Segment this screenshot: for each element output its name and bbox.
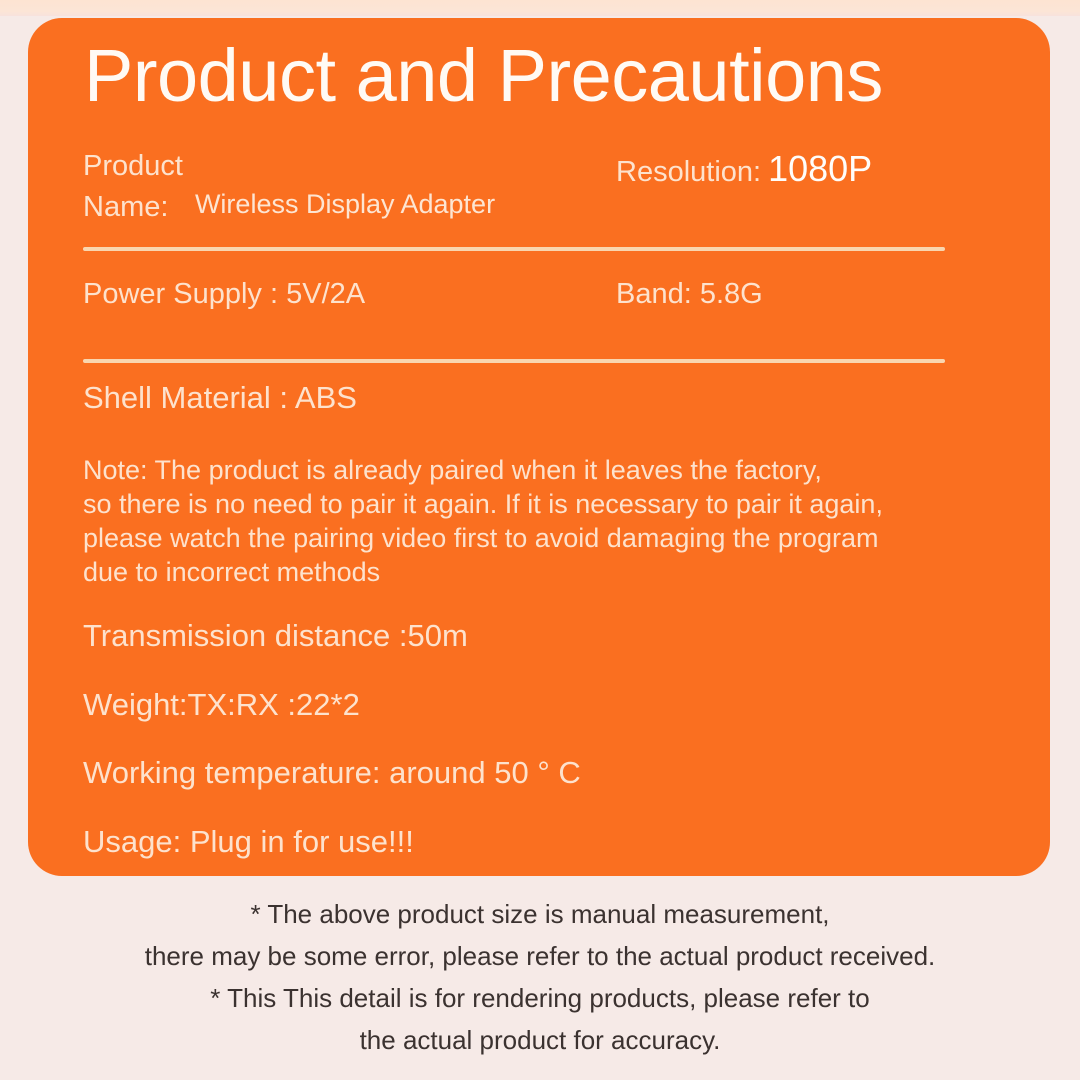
footer-line-4: the actual product for accuracy. xyxy=(0,1019,1080,1061)
spec-usage: Usage: Plug in for use!!! xyxy=(83,822,414,862)
footer-disclaimer: * The above product size is manual measu… xyxy=(0,893,1080,1061)
resolution-value: 1080P xyxy=(761,148,872,189)
resolution-label: Resolution: xyxy=(616,156,761,188)
footer-line-2: there may be some error, please refer to… xyxy=(0,935,1080,977)
top-accent-strip xyxy=(0,0,1080,16)
spec-cell-product-name: Product Name: Wireless Display Adapter xyxy=(83,146,495,228)
spec-row-product-name: Product Name: Wireless Display Adapter R… xyxy=(83,146,995,234)
spec-weight: Weight:TX:RX :22*2 xyxy=(83,685,360,725)
product-name-value: Wireless Display Adapter xyxy=(183,184,495,228)
spec-transmission-distance: Transmission distance :50m xyxy=(83,616,468,656)
spec-working-temperature: Working temperature: around 50 ° C xyxy=(83,753,581,793)
spec-row-power-band: Power Supply : 5V/2A Band: 5.8G xyxy=(83,271,995,341)
footer-line-1: * The above product size is manual measu… xyxy=(0,893,1080,935)
product-name-label: Product Name: xyxy=(83,146,183,228)
spec-cell-resolution: Resolution:1080P xyxy=(616,146,872,195)
page-title: Product and Precautions xyxy=(84,30,883,122)
product-name-label-line2: Name: xyxy=(83,187,183,228)
divider-2 xyxy=(83,359,945,363)
footer-line-3: * This This detail is for rendering prod… xyxy=(0,977,1080,1019)
note-line-2: so there is no need to pair it again. If… xyxy=(83,487,1023,521)
resolution-pair: Resolution:1080P xyxy=(616,146,872,195)
note-line-4: due to incorrect methods xyxy=(83,555,1023,589)
note-line-3: please watch the pairing video first to … xyxy=(83,521,1023,555)
spec-shell-material: Shell Material : ABS xyxy=(83,378,357,418)
note-block: Note: The product is already paired when… xyxy=(83,453,1023,589)
power-supply-text: Power Supply : 5V/2A xyxy=(83,271,365,317)
product-name-label-line1: Product xyxy=(83,146,183,187)
divider-1 xyxy=(83,247,945,251)
band-text: Band: 5.8G xyxy=(616,271,763,317)
note-line-1: Note: The product is already paired when… xyxy=(83,453,1023,487)
spec-cell-power-supply: Power Supply : 5V/2A xyxy=(83,271,365,317)
spec-cell-band: Band: 5.8G xyxy=(616,271,763,317)
product-spec-card: Product and Precautions Product Name: Wi… xyxy=(28,18,1050,876)
